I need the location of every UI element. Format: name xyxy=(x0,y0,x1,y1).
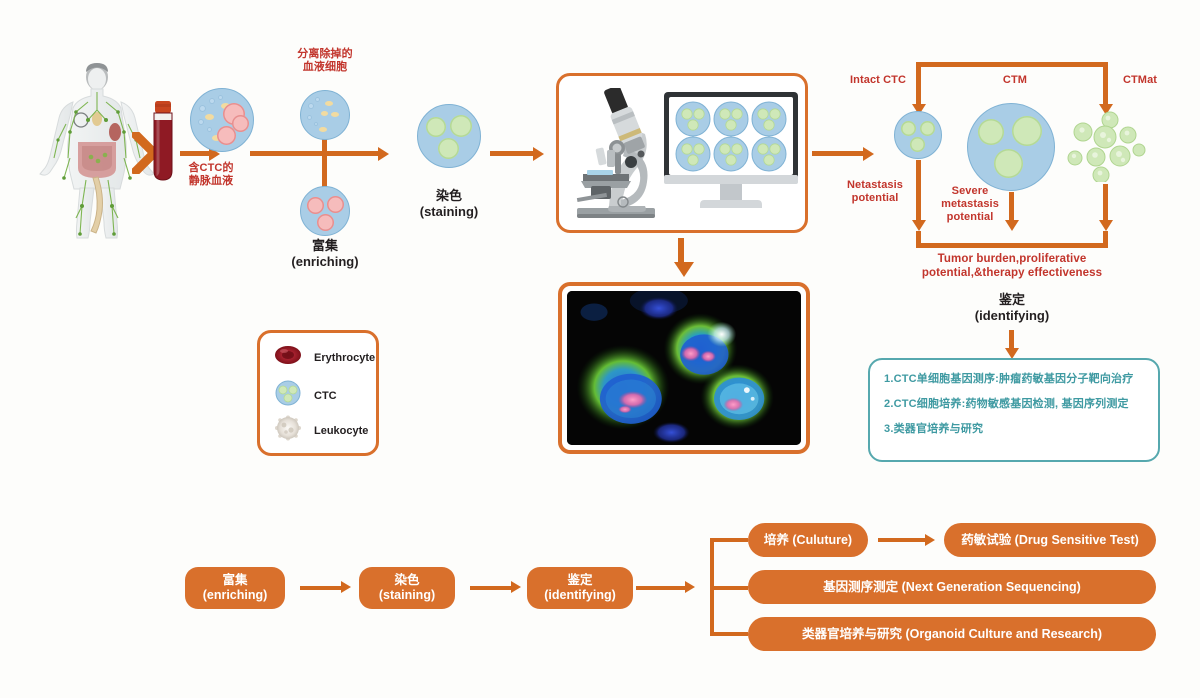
arrow-ctmat-down xyxy=(1103,184,1108,222)
classification-bracket-bottom xyxy=(916,243,1108,248)
blood-sample-label: 含CTC的 静脉血液 xyxy=(176,162,246,188)
enriching-label: 富集 (enriching) xyxy=(280,238,370,270)
classification-summary-line2: potential,&therapy effectiveness xyxy=(905,266,1119,280)
branch-organoid-culture-label: 类器官培养与研究 (Organoid Culture and Research) xyxy=(802,627,1102,642)
fluorescence-image xyxy=(567,291,801,445)
enrich-branch-horizontal xyxy=(258,151,378,156)
identifying-label-en: (identifying) xyxy=(945,308,1079,324)
label-intact-ctc: Intact CTC xyxy=(838,74,918,87)
enriching-label-en: (enriching) xyxy=(280,254,370,270)
branch-culture[interactable]: 培养 (Culuture) xyxy=(748,523,868,557)
arrow-enriching-to-staining-head xyxy=(341,581,351,593)
branch-drug-sensitive-test-label: 药敏试验 (Drug Sensitive Test) xyxy=(961,533,1139,548)
arrow-stain-to-instrument xyxy=(490,151,534,156)
branch-culture-label: 培养 (Culuture) xyxy=(764,533,852,548)
arrow-intact-ctc-down-head xyxy=(912,220,926,231)
identifying-label: 鉴定 (identifying) xyxy=(945,292,1079,324)
erythrocyte-icon xyxy=(274,345,302,370)
arrow-instrument-to-image xyxy=(678,238,684,264)
computer-monitor-icon xyxy=(664,92,798,222)
classification-bracket-bottom-left xyxy=(916,231,921,248)
stained-ctc-droplet xyxy=(417,104,481,168)
outcome-ctm-line2: metastasis xyxy=(930,198,1010,211)
arrow-enriching-to-staining xyxy=(300,586,342,590)
classification-summary-line1: Tumor burden,proliferative xyxy=(905,252,1119,266)
outcome-ctm-line3: potential xyxy=(930,211,1010,224)
removed-cells-label-line2: 血液细胞 xyxy=(282,61,368,74)
branch-bracket-middle xyxy=(710,586,748,590)
legend-item-ctc: CTC xyxy=(274,380,337,411)
removed-cells-droplet xyxy=(300,90,350,140)
bottom-step-enriching-cn: 富集 xyxy=(222,573,247,587)
outcome-ctm: Severe metastasis potential xyxy=(930,185,1010,224)
outcome-intact-ctc-line1: Netastasis xyxy=(836,179,914,192)
legend-label-erythrocyte: Erythrocyte xyxy=(314,352,375,364)
results-item-2: 2.CTC细胞培养:药物敏感基因检测, 基因序列测定 xyxy=(884,397,1144,411)
bottom-step-staining[interactable]: 染色 (staining) xyxy=(359,567,455,609)
identifying-label-cn: 鉴定 xyxy=(945,292,1079,308)
enriched-ctc-droplet xyxy=(300,186,350,236)
bottom-step-identifying-cn: 鉴定 xyxy=(567,573,592,587)
arrow-blood-to-sample xyxy=(180,151,210,156)
bottom-step-enriching-text: 富集 (enriching) xyxy=(203,573,268,603)
label-ctm: CTM xyxy=(975,74,1055,87)
intact-ctc-cell xyxy=(894,111,942,159)
branch-organoid-culture[interactable]: 类器官培养与研究 (Organoid Culture and Research) xyxy=(748,617,1156,651)
blood-collection-tube xyxy=(150,100,176,191)
ctmat-scattered-cells xyxy=(1065,110,1153,182)
legend-label-ctc: CTC xyxy=(314,390,337,402)
enriching-label-cn: 富集 xyxy=(280,238,370,254)
arrow-intact-ctc-down xyxy=(916,160,921,222)
arrow-staining-to-identifying-head xyxy=(511,581,521,593)
removed-cells-label-line1: 分离除掉的 xyxy=(282,48,368,61)
arrow-enrich-to-stain-head xyxy=(378,147,389,161)
arrow-staining-to-identifying xyxy=(470,586,512,590)
outcome-intact-ctc: Netastasis potential xyxy=(836,179,914,205)
blood-sample-label-line2: 静脉血液 xyxy=(176,175,246,188)
arrow-culture-to-drug-test-head xyxy=(925,534,935,546)
bottom-step-identifying-en: (identifying) xyxy=(544,588,616,602)
results-item-1: 1.CTC单细胞基因测序:肿瘤药敏基因分子靶向治疗 xyxy=(884,372,1144,386)
blood-sample-label-line1: 含CTC的 xyxy=(176,162,246,175)
results-box: 1.CTC单细胞基因测序:肿瘤药敏基因分子靶向治疗 2.CTC细胞培养:药物敏感… xyxy=(868,358,1160,462)
branch-drug-sensitive-test[interactable]: 药敏试验 (Drug Sensitive Test) xyxy=(944,523,1156,557)
legend-box: Erythrocyte CTC xyxy=(257,330,379,456)
legend-label-leukocyte: Leukocyte xyxy=(314,425,368,437)
outcome-intact-ctc-line2: potential xyxy=(836,192,914,205)
arrow-identifying-to-branches-head xyxy=(685,581,695,593)
removed-cells-label: 分离除掉的 血液细胞 xyxy=(282,48,368,74)
legend-item-leukocyte: Leukocyte xyxy=(274,415,368,446)
arrow-identify-to-results xyxy=(1009,330,1014,350)
whole-blood-droplet xyxy=(190,88,254,152)
leukocyte-icon xyxy=(274,415,302,446)
ctc-workflow-diagram: { "diagram": { "title": "CTC detection a… xyxy=(0,0,1200,698)
classification-bracket-top xyxy=(916,62,1108,67)
label-ctmat: CTMat xyxy=(1105,74,1175,87)
bottom-step-staining-text: 染色 (staining) xyxy=(379,573,435,603)
bottom-step-identifying[interactable]: 鉴定 (identifying) xyxy=(527,567,633,609)
bottom-step-identifying-text: 鉴定 (identifying) xyxy=(544,573,616,603)
arrow-identifying-to-branches xyxy=(636,586,686,590)
arrow-instrument-to-classification-head xyxy=(863,147,874,161)
fluorescence-image-box xyxy=(558,282,810,454)
instrument-box xyxy=(556,73,808,233)
bottom-step-enriching[interactable]: 富集 (enriching) xyxy=(185,567,285,609)
arrow-instrument-to-classification xyxy=(812,151,864,156)
bottom-step-staining-en: (staining) xyxy=(379,588,435,602)
arrow-instrument-to-image-head xyxy=(674,262,694,277)
arrow-stain-to-instrument-head xyxy=(533,147,544,161)
branch-bracket-top xyxy=(710,538,748,542)
microscope-icon xyxy=(569,88,669,229)
branch-bracket-bottom xyxy=(710,632,748,636)
bottom-step-enriching-en: (enriching) xyxy=(203,588,268,602)
bottom-step-staining-cn: 染色 xyxy=(394,573,419,587)
ctm-cell-cluster xyxy=(967,103,1055,191)
branch-next-generation-sequencing[interactable]: 基因测序测定 (Next Generation Sequencing) xyxy=(748,570,1156,604)
classification-bracket-bottom-right xyxy=(1103,231,1108,248)
staining-label-en: (staining) xyxy=(404,204,494,220)
results-item-3: 3.类器官培养与研究 xyxy=(884,422,1144,436)
arrow-ctmat-down-head xyxy=(1099,220,1113,231)
staining-label: 染色 (staining) xyxy=(404,188,494,220)
legend-item-erythrocyte: Erythrocyte xyxy=(274,345,375,370)
ctc-icon xyxy=(274,380,302,411)
arrow-culture-to-drug-test xyxy=(878,538,926,542)
staining-label-cn: 染色 xyxy=(404,188,494,204)
branch-next-generation-sequencing-label: 基因测序测定 (Next Generation Sequencing) xyxy=(823,580,1081,595)
outcome-ctm-line1: Severe xyxy=(930,185,1010,198)
classification-summary: Tumor burden,proliferative potential,&th… xyxy=(905,252,1119,280)
